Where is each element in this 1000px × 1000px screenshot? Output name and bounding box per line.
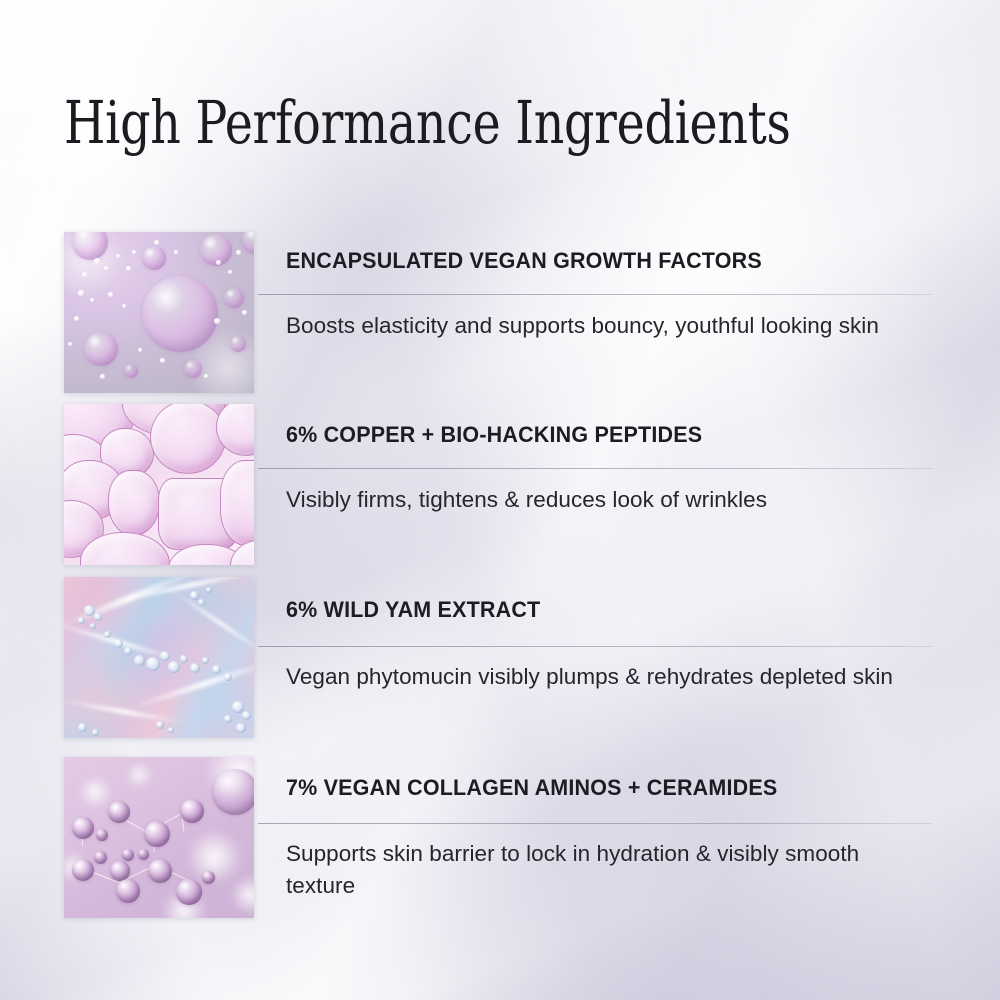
ingredient-thumbnail [64, 757, 254, 918]
ingredient-thumbnail [64, 577, 254, 738]
ingredients-infographic: High Performance Ingredients [0, 0, 1000, 1000]
ingredient-thumbnail [64, 404, 254, 565]
ingredient-divider [258, 468, 932, 469]
ingredient-heading: 6% WILD YAM EXTRACT [286, 597, 540, 623]
ingredient-heading: 7% VEGAN COLLAGEN AMINOS + CERAMIDES [286, 775, 777, 801]
ingredient-description: Vegan phytomucin visibly plumps & rehydr… [286, 661, 934, 693]
cells-artwork [64, 404, 254, 565]
encapsulated-vegan-growth-factors-bubbles-image [64, 232, 254, 393]
ingredients-list: ENCAPSULATED VEGAN GROWTH FACTORS Boosts… [0, 0, 1000, 1000]
ingredient-description: Boosts elasticity and supports bouncy, y… [286, 310, 934, 342]
bubbles-artwork [64, 232, 254, 393]
ingredient-description: Supports skin barrier to lock in hydrati… [286, 838, 934, 902]
ingredient-description: Visibly firms, tightens & reduces look o… [286, 484, 934, 516]
copper-bio-hacking-peptides-cells-image [64, 404, 254, 565]
ingredient-divider [258, 646, 932, 647]
ingredient-divider [258, 294, 932, 295]
ingredient-divider [258, 823, 932, 824]
ingredient-heading: 6% COPPER + BIO-HACKING PEPTIDES [286, 422, 702, 448]
molecule-artwork [64, 757, 254, 918]
gel-artwork [64, 577, 254, 738]
wild-yam-extract-gel-image [64, 577, 254, 738]
vegan-collagen-aminos-ceramides-molecule-image [64, 757, 254, 918]
ingredient-heading: ENCAPSULATED VEGAN GROWTH FACTORS [286, 248, 762, 274]
ingredient-thumbnail [64, 232, 254, 393]
